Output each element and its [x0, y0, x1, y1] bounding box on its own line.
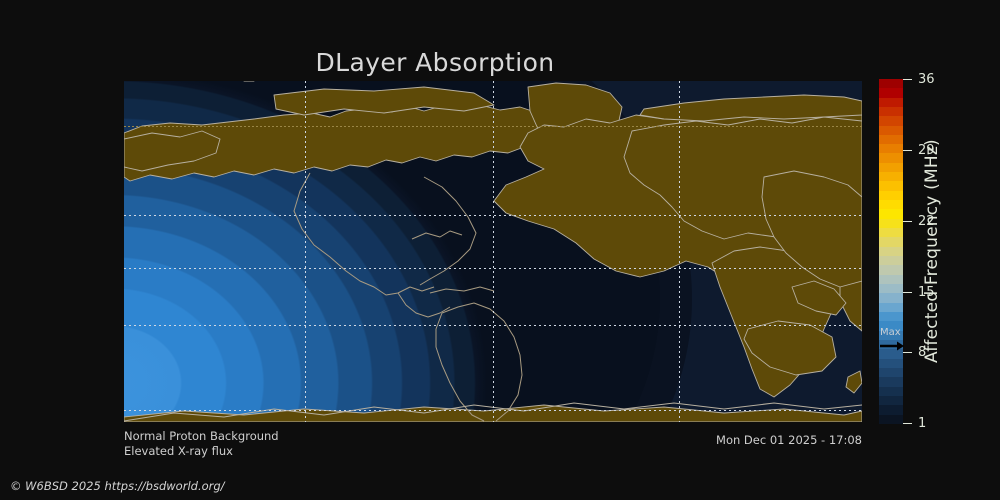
status-line-2: Elevated X-ray flux	[124, 444, 279, 459]
colorbar-band-10	[879, 321, 903, 330]
colorbar-band-28	[879, 153, 903, 162]
colorbar-band-36	[879, 79, 903, 88]
colorbar-tick-dash	[903, 221, 912, 222]
colorbar-band-19	[879, 237, 903, 246]
colorbar-band-26	[879, 172, 903, 181]
colorbar-band-3	[879, 387, 903, 396]
colorbar-band-20	[879, 228, 903, 237]
colorbar-band-1	[879, 405, 903, 414]
colorbar-band-34	[879, 98, 903, 107]
colorbar-band-11	[879, 312, 903, 321]
status-notes: Normal Proton Background Elevated X-ray …	[124, 429, 279, 459]
colorbar-band-29	[879, 144, 903, 153]
colorbar-axis-label: Affected Frequency (MHz)	[921, 79, 943, 424]
colorbar-band-21	[879, 219, 903, 228]
colorbar-tick-dash	[903, 423, 912, 424]
colorbar-band-12	[879, 303, 903, 312]
page-title: DLayer Absorption	[0, 48, 870, 77]
colorbar-band-7	[879, 349, 903, 358]
colorbar-band-23	[879, 200, 903, 209]
world-map-canvas	[124, 81, 862, 422]
colorbar-band-8	[879, 340, 903, 349]
colorbar-band-14	[879, 284, 903, 293]
land-arctic-islands	[274, 87, 494, 115]
colorbar-band-17	[879, 256, 903, 265]
colorbar-band-27	[879, 163, 903, 172]
colorbar-band-2	[879, 396, 903, 405]
dlayer-absorption-page: DLayer Absorption	[0, 0, 1000, 500]
colorbar-band-32	[879, 116, 903, 125]
status-line-1: Normal Proton Background	[124, 429, 279, 444]
colorbar-tick-dash	[903, 79, 912, 80]
colorbar-tick-dash	[903, 150, 912, 151]
colorbar[interactable]	[879, 79, 903, 424]
colorbar-band-18	[879, 247, 903, 256]
world-map-panel[interactable]	[124, 81, 862, 422]
colorbar-band-24	[879, 191, 903, 200]
colorbar-band-6	[879, 359, 903, 368]
colorbar-band-13	[879, 293, 903, 302]
colorbar-tick-dash	[903, 292, 912, 293]
colorbar-band-31	[879, 126, 903, 135]
colorbar-band-30	[879, 135, 903, 144]
colorbar-band-5	[879, 368, 903, 377]
colorbar-tick-dash	[903, 352, 912, 353]
timestamp: Mon Dec 01 2025 - 17:08	[560, 433, 862, 447]
colorbar-band-35	[879, 88, 903, 97]
colorbar-band-0	[879, 415, 903, 424]
colorbar-band-4	[879, 377, 903, 386]
colorbar-band-25	[879, 181, 903, 190]
colorbar-band-33	[879, 107, 903, 116]
colorbar-gradient	[879, 79, 903, 424]
colorbar-band-22	[879, 209, 903, 218]
copyright-notice: © W6BSD 2025 https://bsdworld.org/	[10, 479, 225, 493]
colorbar-band-9	[879, 331, 903, 340]
colorbar-band-16	[879, 265, 903, 274]
colorbar-band-15	[879, 275, 903, 284]
